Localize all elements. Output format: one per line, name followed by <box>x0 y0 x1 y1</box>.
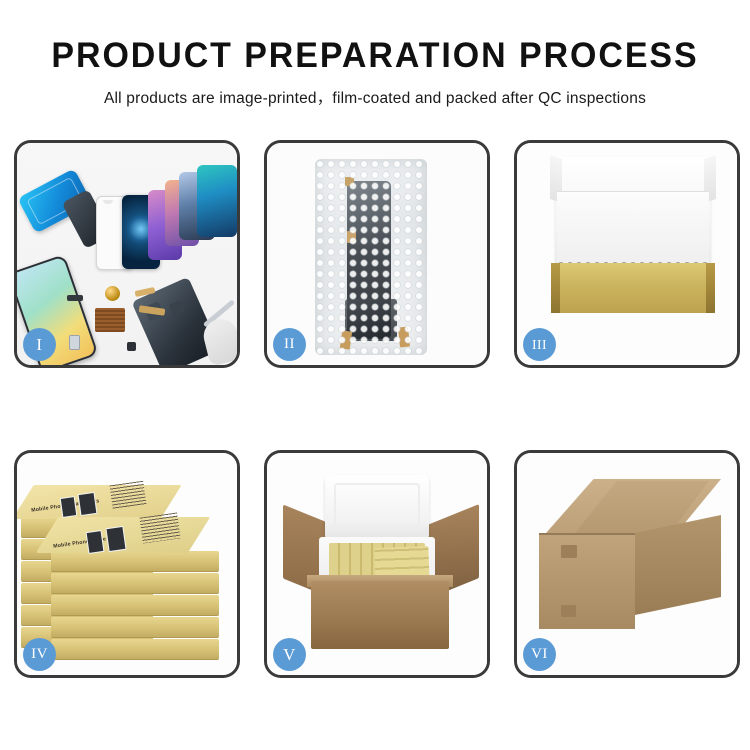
process-step-grid: I II III <box>14 140 736 678</box>
carton-tape-tab-2-icon <box>561 605 576 617</box>
box-left-edge-icon <box>551 263 560 313</box>
box-art-text-lines-1 <box>109 481 146 509</box>
step-badge-5: V <box>273 638 306 671</box>
process-step-5: V <box>264 450 490 678</box>
step-badge-6: VI <box>523 638 556 671</box>
carton-tape-tab-1-icon <box>561 545 577 558</box>
carton-front-seam-icon <box>539 533 635 535</box>
stacked-box-r2 <box>51 639 219 660</box>
phone-screen-teal-icon <box>197 165 237 237</box>
foam-lid-icon <box>325 475 429 541</box>
camera-module-icon <box>127 342 136 351</box>
page-subtitle: All products are image-printed，film-coat… <box>0 86 750 108</box>
white-box-lid-face-icon <box>557 191 709 264</box>
process-step-1: I <box>14 140 240 368</box>
speaker-module-icon <box>105 286 120 301</box>
step-badge-4: IV <box>23 638 56 671</box>
page-header: PRODUCT PREPARATION PROCESS All products… <box>0 0 750 108</box>
stacked-box-r6 <box>51 551 219 572</box>
process-step-6: VI <box>514 450 740 678</box>
bubble-texture <box>315 159 427 355</box>
step-badge-2: II <box>273 328 306 361</box>
process-step-4: Mobile Phone Spare Parts Mobile Phone Sp… <box>14 450 240 678</box>
box-art-swatch-1 <box>60 496 78 518</box>
process-step-3: III <box>514 140 740 368</box>
logic-board-icon <box>95 308 125 332</box>
page-title: PRODUCT PREPARATION PROCESS <box>11 38 739 73</box>
sim-tray-icon <box>69 335 80 350</box>
bubble-wrap-bag-icon <box>315 159 427 355</box>
stacked-box-r4 <box>51 595 219 616</box>
step-badge-1: I <box>23 328 56 361</box>
stacked-box-r5 <box>51 573 219 594</box>
box-art-swatch-2 <box>78 492 98 516</box>
box-art-text-lines-2 <box>139 512 180 543</box>
earpiece-icon <box>67 295 83 301</box>
process-step-2: II <box>264 140 490 368</box>
carton-front-face-icon <box>539 533 635 629</box>
box-art-swatch-3 <box>86 530 105 554</box>
carton-body-icon <box>311 581 449 649</box>
stacked-box-r3 <box>51 617 219 638</box>
kraft-box-base-icon <box>551 263 715 313</box>
box-right-edge-icon <box>706 263 715 313</box>
box-art-swatch-4 <box>105 526 126 552</box>
step-badge-3: III <box>523 328 556 361</box>
